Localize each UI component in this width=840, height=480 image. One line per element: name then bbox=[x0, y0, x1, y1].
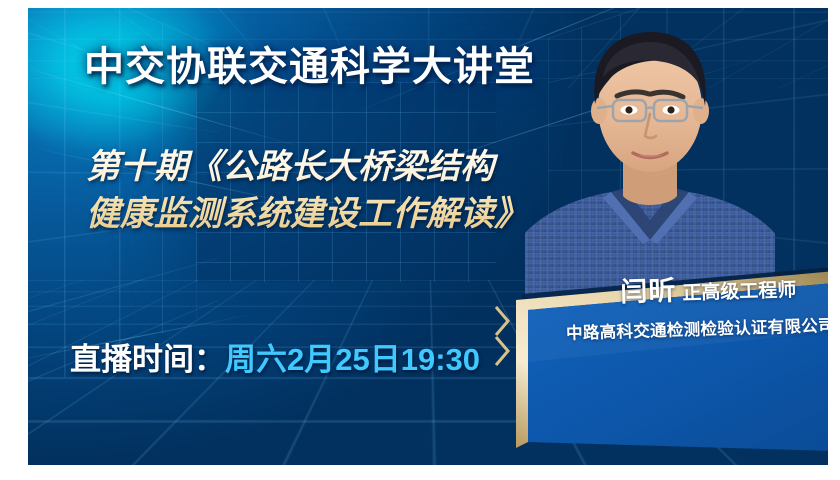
live-time-value: 周六2月25日19:30 bbox=[225, 342, 480, 377]
speaker-name: 闫昕 bbox=[620, 276, 677, 308]
live-time-label: 直播时间： bbox=[70, 342, 225, 377]
page-title: 中交协联交通科学大讲堂 bbox=[84, 34, 535, 92]
poster-canvas: 中交协联交通科学大讲堂 第十期《公路长大桥梁结构 健康监测系统建设工作解读》 直… bbox=[28, 8, 828, 465]
live-stream-poster: 中交协联交通科学大讲堂 第十期《公路长大桥梁结构 健康监测系统建设工作解读》 直… bbox=[0, 0, 840, 480]
speaker-title: 正高级工程师 bbox=[682, 280, 797, 304]
episode-subtitle-line-2: 健康监测系统建设工作解读》 bbox=[86, 191, 606, 238]
live-time: 直播时间：周六2月25日19:30 bbox=[70, 334, 480, 379]
speaker-panel: 闫昕正高级工程师 中路高科交通检测检验认证有限公司 bbox=[498, 258, 828, 465]
episode-subtitle: 第十期《公路长大桥梁结构 健康监测系统建设工作解读》 bbox=[86, 144, 606, 238]
episode-subtitle-line-1: 第十期《公路长大桥梁结构 bbox=[86, 148, 494, 186]
speaker-info: 闫昕正高级工程师 中路高科交通检测检验认证有限公司 bbox=[526, 272, 828, 345]
